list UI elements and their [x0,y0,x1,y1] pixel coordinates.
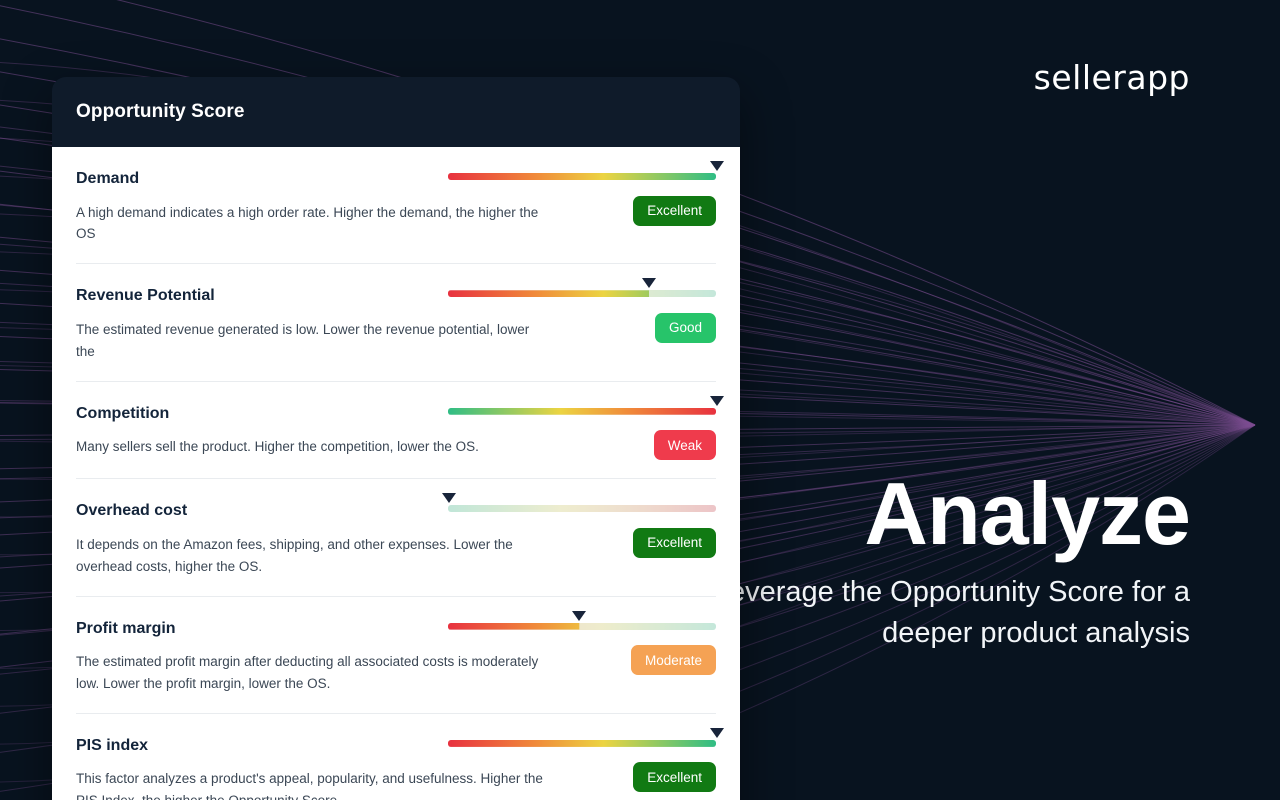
meter-gradient-fill [448,740,716,747]
factor-footer: This factor analyzes a product's appeal,… [76,768,716,800]
meter-track [448,505,716,512]
factor-name: Demand [76,169,139,188]
card-header: Opportunity Score [52,77,740,147]
factor-header: Overhead cost [76,501,716,520]
factor-score-meter[interactable] [448,173,716,180]
status-badge: Weak [654,430,716,460]
factor-score-meter[interactable] [448,623,716,630]
factor-row: Competition Many sellers sell the produc… [76,382,716,480]
meter-track [448,408,716,415]
status-badge: Excellent [633,196,716,226]
factor-footer: Many sellers sell the product. Higher th… [76,436,716,460]
factor-footer: The estimated revenue generated is low. … [76,319,716,363]
page-title: Opportunity Score [76,101,245,123]
meter-marker-icon [642,278,656,288]
factor-description: It depends on the Amazon fees, shipping,… [76,534,546,578]
meter-marker-icon [710,161,724,171]
factor-footer: It depends on the Amazon fees, shipping,… [76,534,716,578]
factor-description: The estimated revenue generated is low. … [76,319,546,363]
brand-wordmark-text: sellerapp [1034,58,1190,97]
page-root: sellerapp Analyze Leverage the Opportuni… [0,0,1280,800]
factor-header: Competition [76,404,716,423]
status-badge: Moderate [631,645,716,675]
status-badge: Excellent [633,528,716,558]
sellerapp-logo: sellerapp [1034,58,1190,97]
factor-name: Profit margin [76,619,176,638]
factor-footer: A high demand indicates a high order rat… [76,202,716,246]
opportunity-score-card: Opportunity Score Demand A high demand i… [52,77,740,800]
factor-row: Revenue Potential The estimated revenue … [76,264,716,381]
factor-footer: The estimated profit margin after deduct… [76,651,716,695]
factor-score-meter[interactable] [448,408,716,415]
factor-row: Profit margin The estimated profit margi… [76,597,716,714]
factor-description: Many sellers sell the product. Higher th… [76,436,479,458]
factor-row: PIS index This factor analyzes a product… [76,714,716,800]
factor-score-meter[interactable] [448,740,716,747]
meter-track [448,290,716,297]
factor-name: Overhead cost [76,501,187,520]
factor-header: PIS index [76,736,716,755]
factor-name: PIS index [76,736,148,755]
factor-description: A high demand indicates a high order rat… [76,202,546,246]
status-badge: Good [655,313,716,343]
meter-marker-icon [710,396,724,406]
factor-row: Demand A high demand indicates a high or… [76,147,716,264]
factor-description: The estimated profit margin after deduct… [76,651,546,695]
status-badge: Excellent [633,762,716,792]
meter-marker-icon [442,493,456,503]
factor-header: Revenue Potential [76,286,716,305]
factor-header: Demand [76,169,716,188]
factor-name: Competition [76,404,169,423]
meter-gradient-fill [448,173,716,180]
factor-score-meter[interactable] [448,505,716,512]
meter-marker-icon [710,728,724,738]
factor-header: Profit margin [76,619,716,638]
meter-track [448,740,716,747]
meter-marker-icon [572,611,586,621]
meter-track [448,173,716,180]
card-body: Demand A high demand indicates a high or… [52,147,740,800]
factor-score-meter[interactable] [448,290,716,297]
factor-row: Overhead cost It depends on the Amazon f… [76,479,716,596]
meter-gradient-fill [448,408,716,415]
factor-description: This factor analyzes a product's appeal,… [76,768,546,800]
meter-track [448,623,716,630]
meter-gradient-faded [448,505,716,512]
factor-name: Revenue Potential [76,286,215,305]
